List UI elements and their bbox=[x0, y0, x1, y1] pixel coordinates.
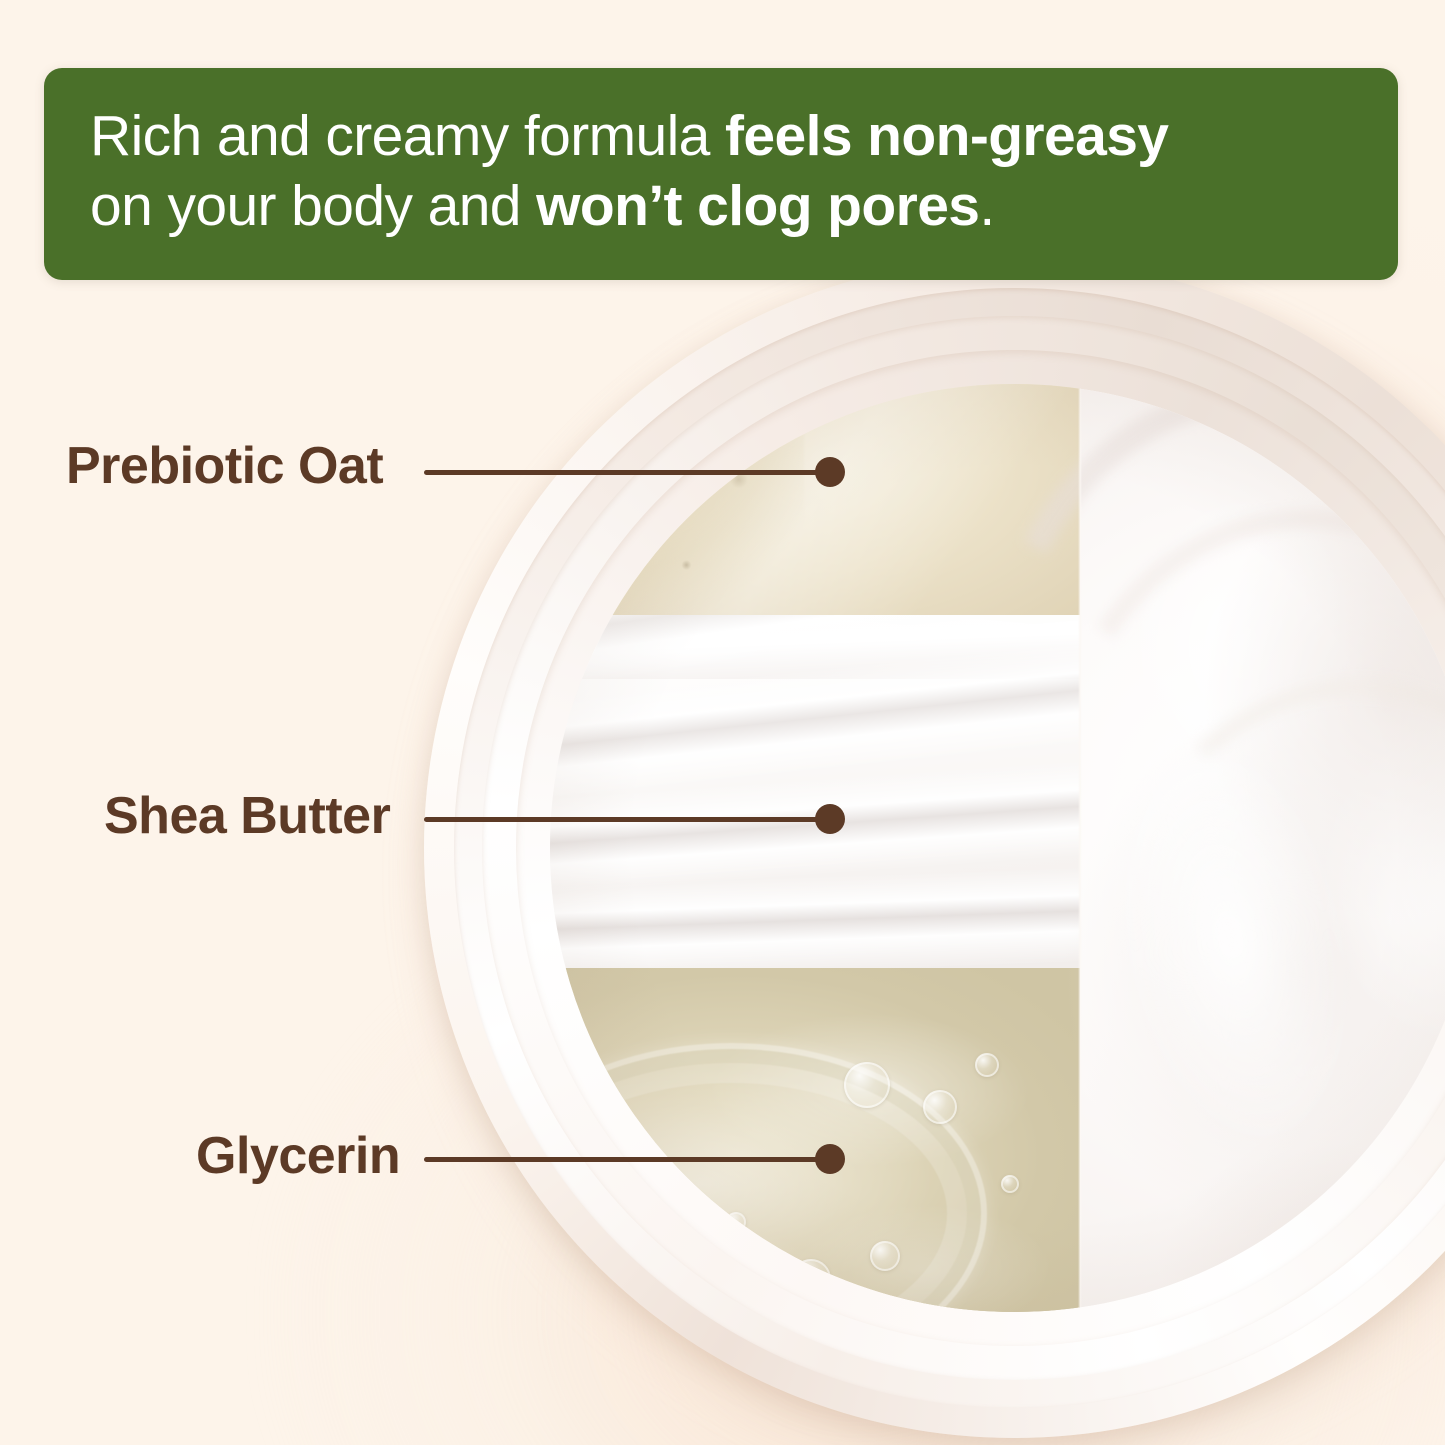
gel-bubble bbox=[1001, 1175, 1019, 1193]
jar-contents-disc bbox=[550, 384, 1445, 1312]
segment-divider bbox=[1078, 384, 1082, 1312]
headline-line-2-bold: won’t clog pores bbox=[536, 174, 979, 238]
product-ingredient-infographic: Rich and creamy formula feels non-greasy… bbox=[0, 0, 1445, 1445]
oat-surface-sheen bbox=[550, 384, 1080, 615]
callout-leader-line-shea-butter bbox=[424, 817, 828, 822]
callout-dot-shea-butter bbox=[815, 804, 845, 834]
callout-dot-prebiotic-oat bbox=[815, 457, 845, 487]
headline-line-2-regular: on your body and bbox=[90, 174, 536, 238]
gel-bubble bbox=[844, 1062, 890, 1108]
callout-label-prebiotic-oat: Prebiotic Oat bbox=[66, 436, 383, 496]
callout-dot-glycerin bbox=[815, 1144, 845, 1174]
jar-contents-plane bbox=[550, 384, 1445, 1312]
headline-line-1-bold: feels non-greasy bbox=[725, 104, 1168, 168]
callout-label-glycerin: Glycerin bbox=[196, 1126, 400, 1186]
segment-whipped-cream-swirl bbox=[1080, 384, 1445, 1312]
product-jar bbox=[424, 258, 1445, 1438]
segment-prebiotic-oat-powder bbox=[550, 384, 1080, 615]
headline-line-2-tail: . bbox=[979, 174, 994, 238]
callout-leader-line-prebiotic-oat bbox=[424, 470, 828, 475]
callout-leader-line-glycerin bbox=[424, 1157, 828, 1162]
headline-line-2: on your body and won’t clog pores. bbox=[90, 172, 1358, 242]
headline-line-1-regular: Rich and creamy formula bbox=[90, 104, 725, 168]
gel-bubble bbox=[870, 1241, 900, 1271]
headline-banner: Rich and creamy formula feels non-greasy… bbox=[44, 68, 1398, 280]
gel-bubble bbox=[923, 1090, 957, 1124]
segment-glycerin-gel bbox=[550, 968, 1080, 1312]
callout-label-shea-butter: Shea Butter bbox=[104, 786, 390, 846]
gel-bubble bbox=[975, 1053, 999, 1077]
headline-line-1: Rich and creamy formula feels non-greasy bbox=[90, 102, 1358, 172]
